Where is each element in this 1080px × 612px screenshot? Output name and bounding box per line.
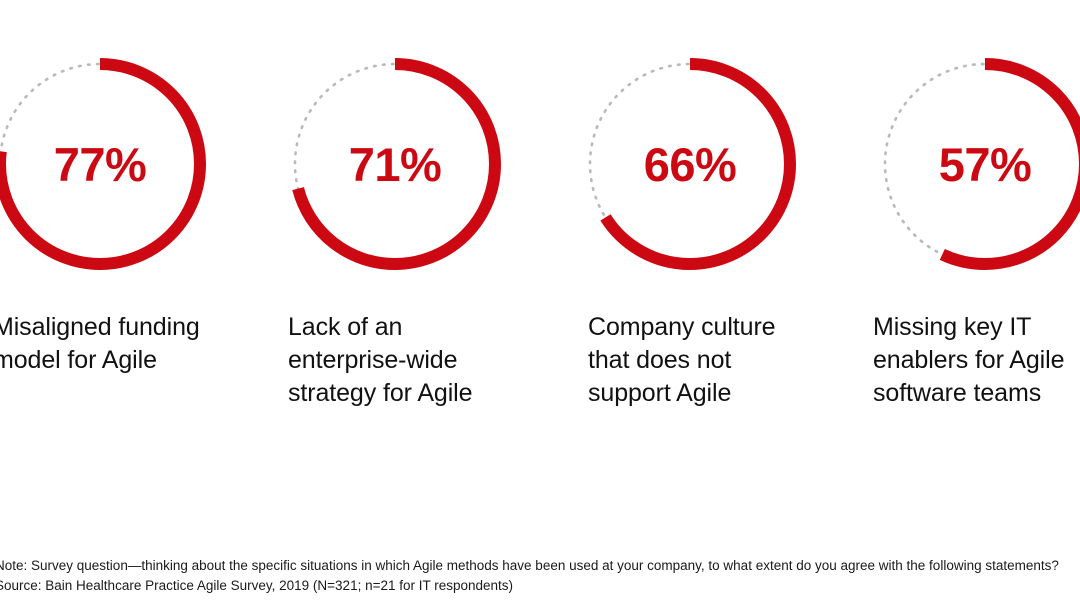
donut-label-0: Misaligned funding model for Agile <box>0 311 243 377</box>
slide-canvas: 77% 71% 66% 57% Misalig <box>0 0 1080 612</box>
donut-arc-1 <box>295 64 495 264</box>
donut-label-3: Missing key IT enablers for Agile softwa… <box>873 311 1080 409</box>
donut-chart-3: 57% <box>879 58 1080 270</box>
donut-chart-2: 66% <box>584 58 796 270</box>
donut-arc-2 <box>590 64 790 264</box>
donut-label-2: Company culture that does not support Ag… <box>588 311 838 409</box>
donut-chart-row: 77% 71% 66% 57% <box>0 0 1080 300</box>
donut-svg-0 <box>0 58 206 270</box>
donut-svg-3 <box>879 58 1080 270</box>
footnote-source: Source: Bain Healthcare Practice Agile S… <box>0 576 1080 596</box>
footnotes: Note: Survey question—thinking about the… <box>0 556 1080 595</box>
donut-svg-2 <box>584 58 796 270</box>
donut-arc-0 <box>0 64 200 264</box>
donut-svg-1 <box>289 58 501 270</box>
donut-chart-1: 71% <box>289 58 501 270</box>
donut-label-1: Lack of an enterprise-wide strategy for … <box>288 311 538 409</box>
donut-chart-0: 77% <box>0 58 206 270</box>
footnote-note: Note: Survey question—thinking about the… <box>0 556 1080 576</box>
